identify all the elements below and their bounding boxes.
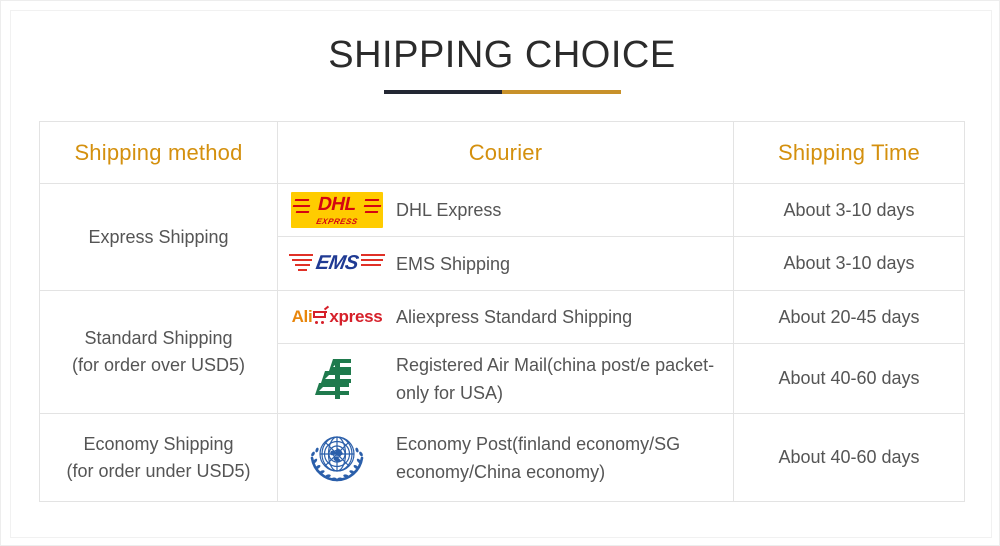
courier-cell-china-post: Registered Air Mail(china post/e packet-… [278, 344, 734, 414]
method-cell-economy: Economy Shipping (for order under USD5) [40, 414, 278, 502]
shipping-time: About 40-60 days [734, 344, 965, 414]
column-header-courier: Courier [278, 122, 734, 184]
china-post-logo [311, 353, 363, 405]
shopping-cart-icon [313, 310, 328, 324]
table-row: Express Shipping [40, 184, 965, 237]
page-frame: SHIPPING CHOICE Shipping method Courier … [0, 0, 1000, 546]
shipping-time: About 3-10 days [734, 237, 965, 291]
courier-name: Economy Post(finland economy/SG economy/… [396, 430, 733, 486]
title-underline-right [502, 90, 621, 94]
shipping-table: Shipping method Courier Shipping Time Ex… [39, 121, 965, 502]
dhl-logo-word: DHL [316, 195, 358, 214]
courier-name: EMS Shipping [396, 250, 510, 278]
courier-cell-ems: EMS EMS Shipping [278, 237, 734, 291]
shipping-time: About 40-60 days [734, 414, 965, 502]
aliexpress-logo: Ali xpress [292, 307, 383, 327]
logo-slot [278, 428, 396, 488]
ems-logo: EMS [289, 247, 385, 281]
dhl-logo: DHL EXPRESS [291, 192, 383, 228]
logo-slot: DHL EXPRESS [278, 192, 396, 228]
logo-slot: Ali xpress [278, 307, 396, 327]
method-note: (for order under USD5) [40, 458, 277, 485]
courier-cell-dhl: DHL EXPRESS DHL Express [278, 184, 734, 237]
courier-name: Registered Air Mail(china post/e packet-… [396, 351, 733, 407]
method-name: Standard Shipping [40, 325, 277, 352]
title-underline [384, 90, 621, 94]
courier-cell-economy-post: Economy Post(finland economy/SG economy/… [278, 414, 734, 502]
logo-slot [278, 353, 396, 405]
courier-name: DHL Express [396, 196, 501, 224]
ems-logo-word: EMS [314, 253, 360, 274]
logo-slot: EMS [278, 247, 396, 281]
method-name: Economy Shipping [40, 431, 277, 458]
aliexpress-logo-part1: Ali [292, 307, 313, 327]
method-name: Express Shipping [40, 224, 277, 251]
method-note: (for order over USD5) [40, 352, 277, 379]
un-logo [305, 428, 369, 488]
courier-name: Aliexpress Standard Shipping [396, 303, 632, 331]
aliexpress-logo-part2: xpress [329, 307, 382, 327]
shipping-time: About 3-10 days [734, 184, 965, 237]
title-underline-left [384, 90, 503, 94]
title-block: SHIPPING CHOICE [11, 32, 993, 94]
method-cell-express: Express Shipping [40, 184, 278, 291]
courier-cell-aliexpress: Ali xpress [278, 291, 734, 344]
dhl-logo-subtitle: EXPRESS [315, 217, 358, 226]
column-header-method: Shipping method [40, 122, 278, 184]
column-header-time: Shipping Time [734, 122, 965, 184]
content-card: SHIPPING CHOICE Shipping method Courier … [10, 10, 992, 538]
page-title: SHIPPING CHOICE [11, 32, 993, 78]
table-header-row: Shipping method Courier Shipping Time [40, 122, 965, 184]
method-cell-standard: Standard Shipping (for order over USD5) [40, 291, 278, 414]
table-row: Economy Shipping (for order under USD5) [40, 414, 965, 502]
table-row: Standard Shipping (for order over USD5) … [40, 291, 965, 344]
shipping-time: About 20-45 days [734, 291, 965, 344]
